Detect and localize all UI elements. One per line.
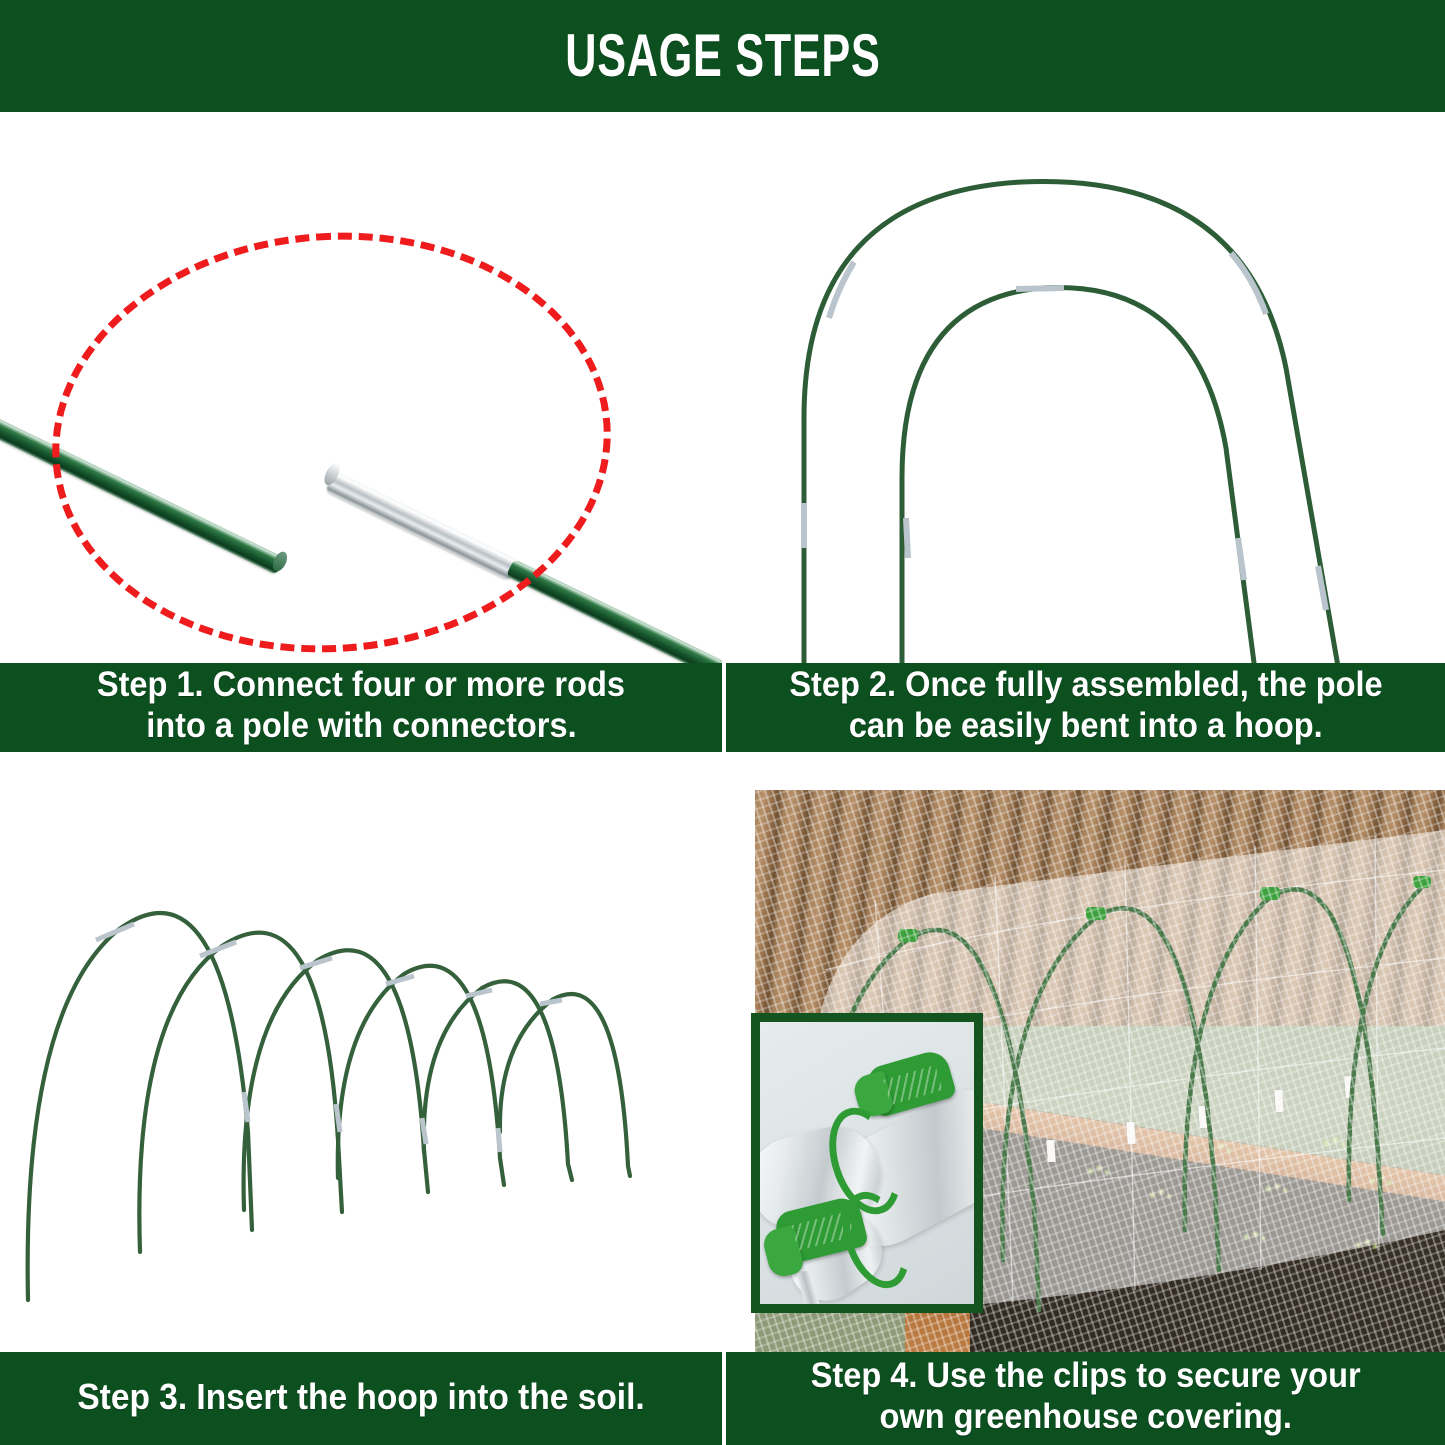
- page-title: USAGE STEPS: [565, 26, 880, 86]
- outer-hoop: [804, 182, 1340, 663]
- inner-hoop: [902, 287, 1256, 663]
- caption-step-2-line-1: Step 2. Once fully assembled, the pole: [789, 665, 1382, 705]
- panel-step-1: Step 1. Connect four or more rods into a…: [0, 118, 722, 752]
- hoop-clip: [1086, 907, 1106, 920]
- outer-hoop-connector-lower-right: [1318, 566, 1326, 610]
- inner-hoop-connector-left: [906, 518, 908, 558]
- panel-step-2: Step 2. Once fully assembled, the pole c…: [726, 118, 1445, 752]
- outer-hoop-connector-right: [1231, 253, 1266, 314]
- step-1-illustration: [0, 118, 722, 663]
- caption-step-2: Step 2. Once fully assembled, the pole c…: [726, 663, 1445, 752]
- header-bar: USAGE STEPS: [0, 0, 1445, 112]
- tunnel-connector-10: [498, 1128, 500, 1152]
- infographic-page: USAGE STEPS Step 1. Connect four or more…: [0, 0, 1445, 1445]
- tunnel-connector-6: [540, 1000, 562, 1004]
- panel-step-3: Step 3. Insert the hoop into the soil.: [0, 760, 722, 1445]
- panel-step-4: Step 4. Use the clips to secure your own…: [726, 760, 1445, 1445]
- caption-step-1: Step 1. Connect four or more rods into a…: [0, 663, 722, 752]
- caption-step-1-line-2: into a pole with connectors.: [146, 706, 576, 746]
- inner-hoop-connector-right: [1238, 538, 1244, 580]
- clip-closeup-inset: [751, 1013, 983, 1313]
- caption-step-3: Step 3. Insert the hoop into the soil.: [0, 1352, 722, 1445]
- caption-step-4: Step 4. Use the clips to secure your own…: [726, 1352, 1445, 1445]
- caption-step-4-line-2: own greenhouse covering.: [879, 1397, 1291, 1437]
- tunnel-connector-5: [466, 990, 492, 996]
- hoop-clip: [898, 929, 918, 942]
- hoop-2: [139, 933, 342, 1252]
- step-2-illustration: [726, 118, 1445, 663]
- hoop-tunnel-svg: [0, 760, 722, 1352]
- caption-step-2-line-2: can be easily bent into a hoop.: [849, 706, 1323, 746]
- hoop-clip: [1413, 876, 1431, 888]
- caption-step-1-line-1: Step 1. Connect four or more rods: [97, 665, 625, 705]
- hoop-4: [338, 966, 504, 1185]
- inner-hoop-connector-top: [1016, 288, 1064, 289]
- caption-step-3-line-1: Step 3. Insert the hoop into the soil.: [77, 1376, 644, 1417]
- step-3-illustration: [0, 760, 722, 1352]
- hoop-clip: [1260, 887, 1280, 900]
- step-4-illustration: [726, 760, 1445, 1352]
- tunnel-connector-1: [96, 924, 134, 940]
- caption-step-4-line-1: Step 4. Use the clips to secure your: [811, 1356, 1361, 1396]
- hoops-svg: [726, 118, 1445, 663]
